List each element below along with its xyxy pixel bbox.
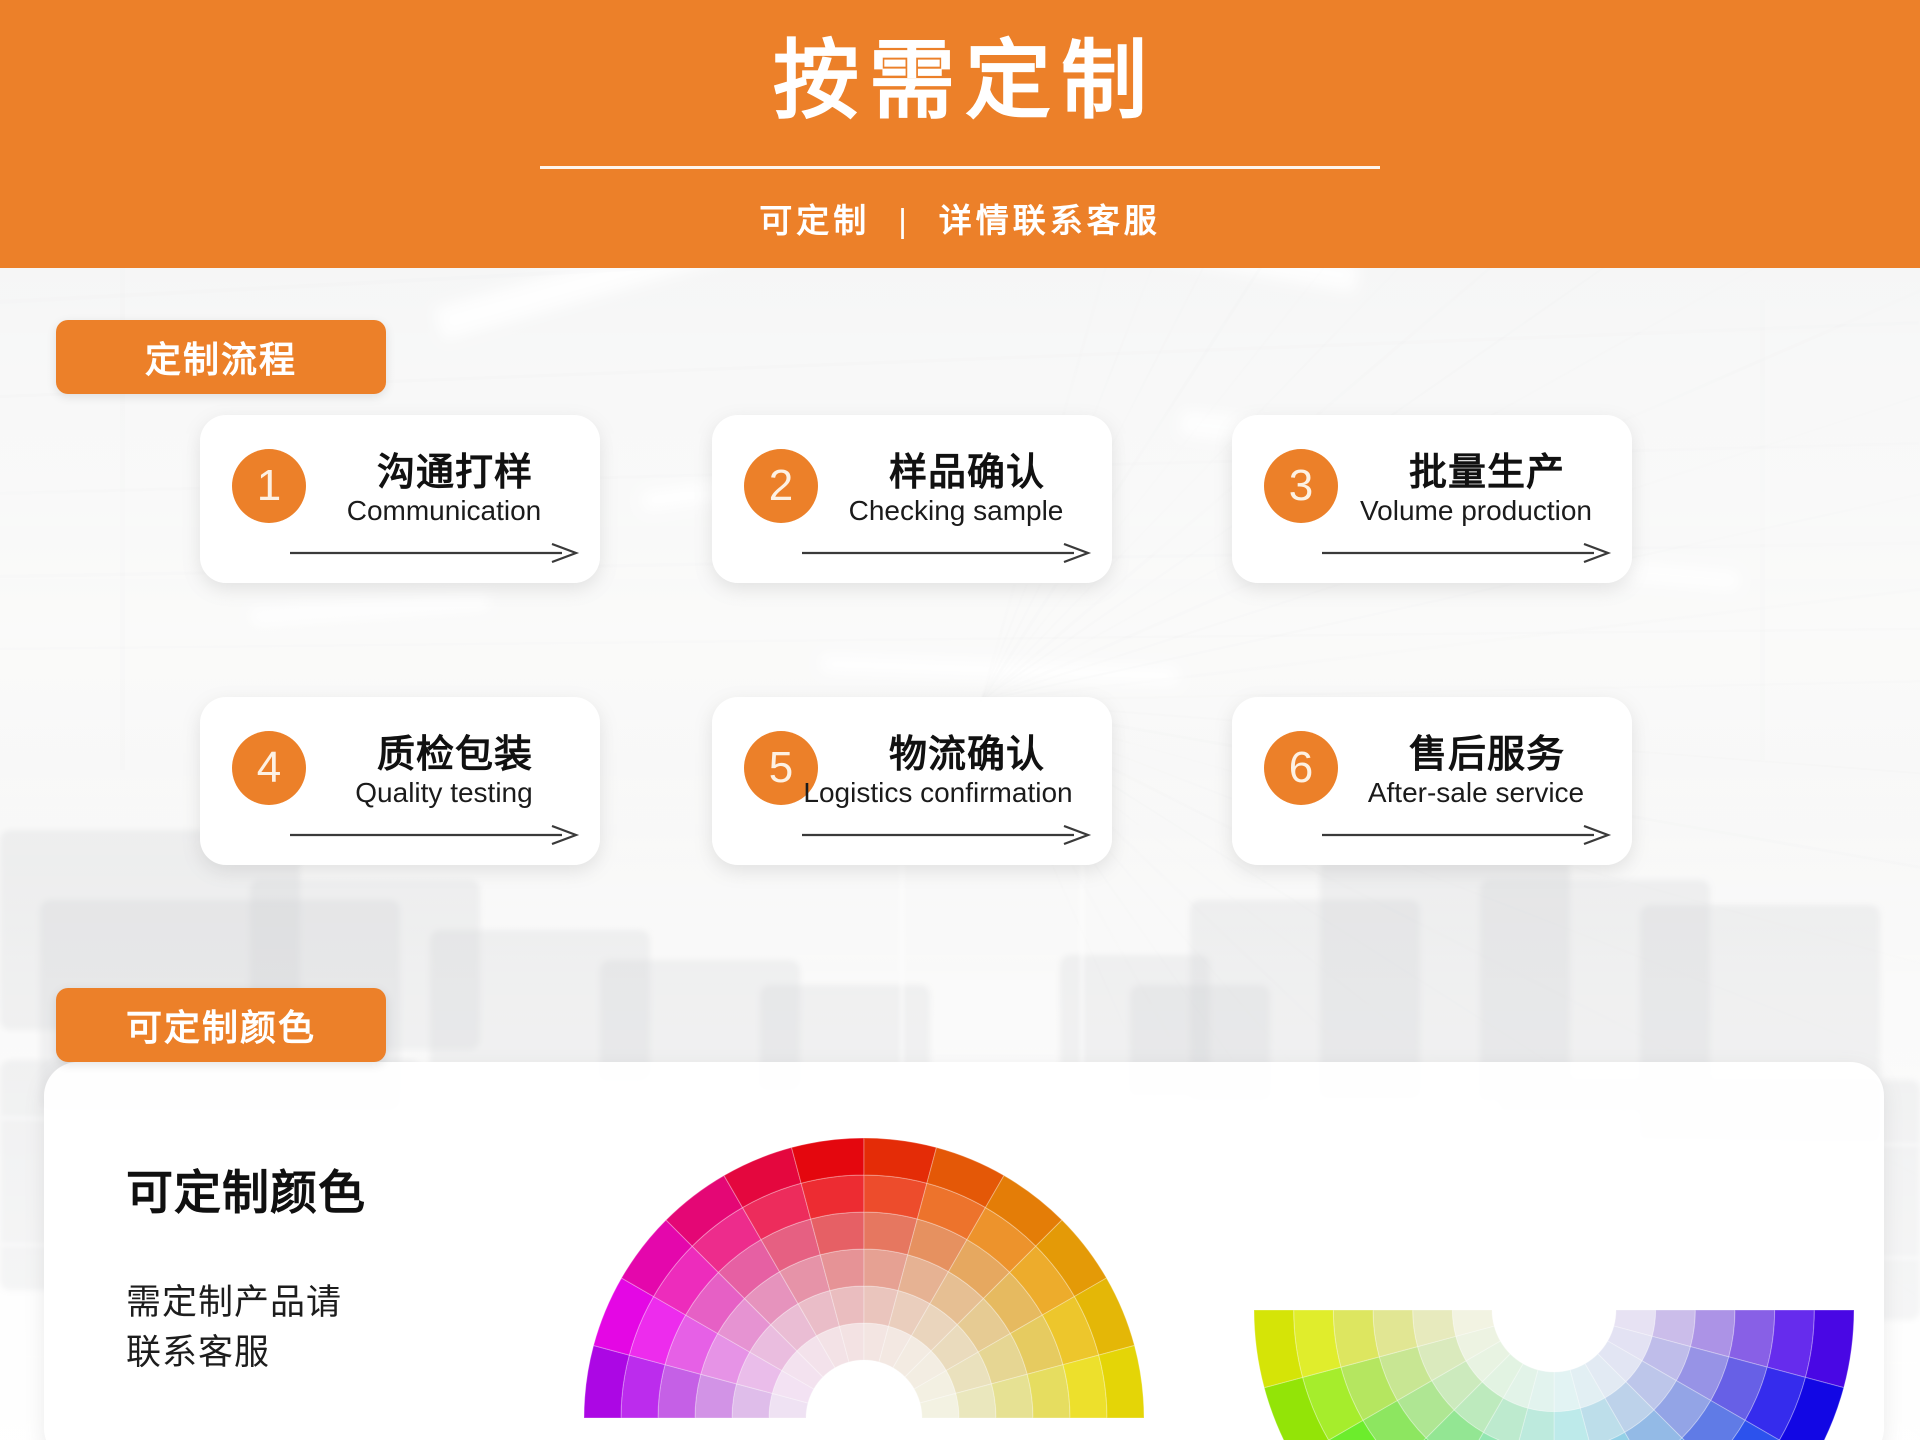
step-number-badge: 4 bbox=[232, 731, 306, 805]
customization-banner: 按需定制 可定制|详情联系客服 定制流程 可定制颜色 1沟通打样Communic… bbox=[0, 0, 1920, 1440]
step-title-en: Quality testing bbox=[296, 777, 592, 809]
step-arrow-icon bbox=[290, 543, 580, 563]
color-panel-line-1: 需定制产品请 bbox=[126, 1278, 342, 1328]
process-card: 3批量生产Volume production bbox=[1232, 415, 1632, 583]
page-title: 按需定制 bbox=[0, 32, 1920, 131]
step-title-cn: 物流确认 bbox=[832, 723, 1102, 778]
step-title-cn: 沟通打样 bbox=[320, 441, 590, 496]
step-title-en: Volume production bbox=[1328, 495, 1624, 527]
header-subtitle: 可定制|详情联系客服 bbox=[0, 194, 1920, 242]
warm-color-wheel-icon bbox=[584, 1138, 1144, 1440]
step-title-en: Checking sample bbox=[808, 495, 1104, 527]
step-arrow-icon bbox=[802, 543, 1092, 563]
step-title-en: After-sale service bbox=[1328, 777, 1624, 809]
section-badge-colors: 可定制颜色 bbox=[56, 988, 386, 1062]
step-title-cn: 批量生产 bbox=[1352, 441, 1622, 496]
section-badge-process: 定制流程 bbox=[56, 320, 386, 394]
step-title-cn: 售后服务 bbox=[1352, 723, 1622, 778]
step-number-badge: 1 bbox=[232, 449, 306, 523]
cool-color-wheel-icon bbox=[1254, 1062, 1854, 1440]
process-card: 1沟通打样Communication bbox=[200, 415, 600, 583]
step-number-badge: 6 bbox=[1264, 731, 1338, 805]
color-customization-panel: 可定制颜色 需定制产品请 联系客服 bbox=[44, 1062, 1884, 1440]
step-arrow-icon bbox=[1322, 825, 1612, 845]
subtitle-left-text: 可定制 bbox=[759, 202, 870, 239]
process-card: 2样品确认Checking sample bbox=[712, 415, 1112, 583]
process-card: 6售后服务After-sale service bbox=[1232, 697, 1632, 865]
step-arrow-icon bbox=[290, 825, 580, 845]
color-panel-title: 可定制颜色 bbox=[126, 1154, 366, 1223]
color-panel-description: 需定制产品请 联系客服 bbox=[126, 1278, 342, 1377]
step-title-en: Communication bbox=[296, 495, 592, 527]
color-panel-line-2: 联系客服 bbox=[126, 1328, 342, 1378]
header-divider-rule bbox=[540, 166, 1380, 169]
step-arrow-icon bbox=[802, 825, 1092, 845]
process-card: 5物流确认Logistics confirmation bbox=[712, 697, 1112, 865]
step-title-cn: 样品确认 bbox=[832, 441, 1102, 496]
subtitle-divider: | bbox=[898, 202, 911, 240]
step-title-cn: 质检包装 bbox=[320, 723, 590, 778]
step-title-en: Logistics confirmation bbox=[772, 777, 1104, 809]
step-number-badge: 2 bbox=[744, 449, 818, 523]
step-number-badge: 3 bbox=[1264, 449, 1338, 523]
header-banner: 按需定制 可定制|详情联系客服 bbox=[0, 0, 1920, 268]
step-arrow-icon bbox=[1322, 543, 1612, 563]
subtitle-right-text: 详情联系客服 bbox=[939, 202, 1161, 239]
process-card: 4质检包装Quality testing bbox=[200, 697, 600, 865]
